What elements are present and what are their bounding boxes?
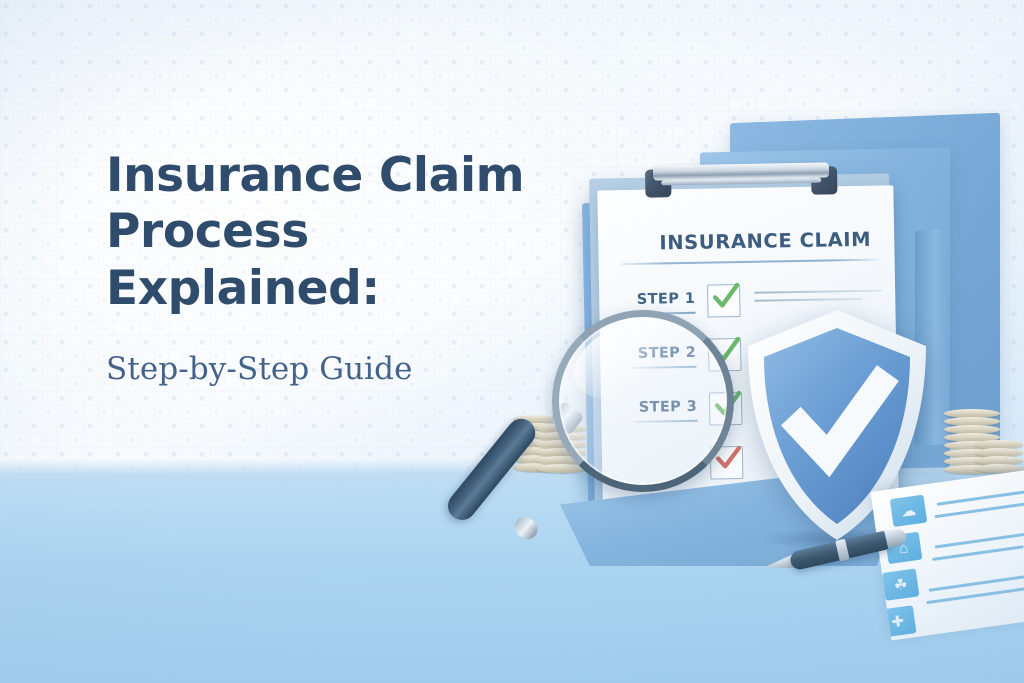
step-placeholder-lines — [754, 281, 887, 307]
claim-form-title: INSURANCE CLAIM — [640, 227, 890, 254]
claim-form-title-rule — [621, 259, 879, 266]
clipboard-clip — [645, 160, 838, 197]
magnifier-glare — [562, 310, 702, 415]
magnifying-glass — [508, 306, 728, 536]
hero-copy: Insurance Claim Process Explained: Step-… — [106, 148, 536, 388]
page-subtitle: Step-by-Step Guide — [106, 351, 536, 388]
step-label: STEP 1 — [625, 285, 695, 308]
pen-cap — [884, 527, 907, 548]
magnifier-lens — [552, 310, 734, 492]
hero-banner: INSURANCE CLAIM STEP 1 STEP — [0, 0, 1024, 683]
headline-line-1: Insurance Claim — [106, 148, 524, 203]
tree-icon: ☘ — [882, 568, 920, 600]
headline-line-2: Process Explained: — [106, 204, 536, 317]
page-title: Insurance Claim Process Explained: — [106, 148, 536, 317]
